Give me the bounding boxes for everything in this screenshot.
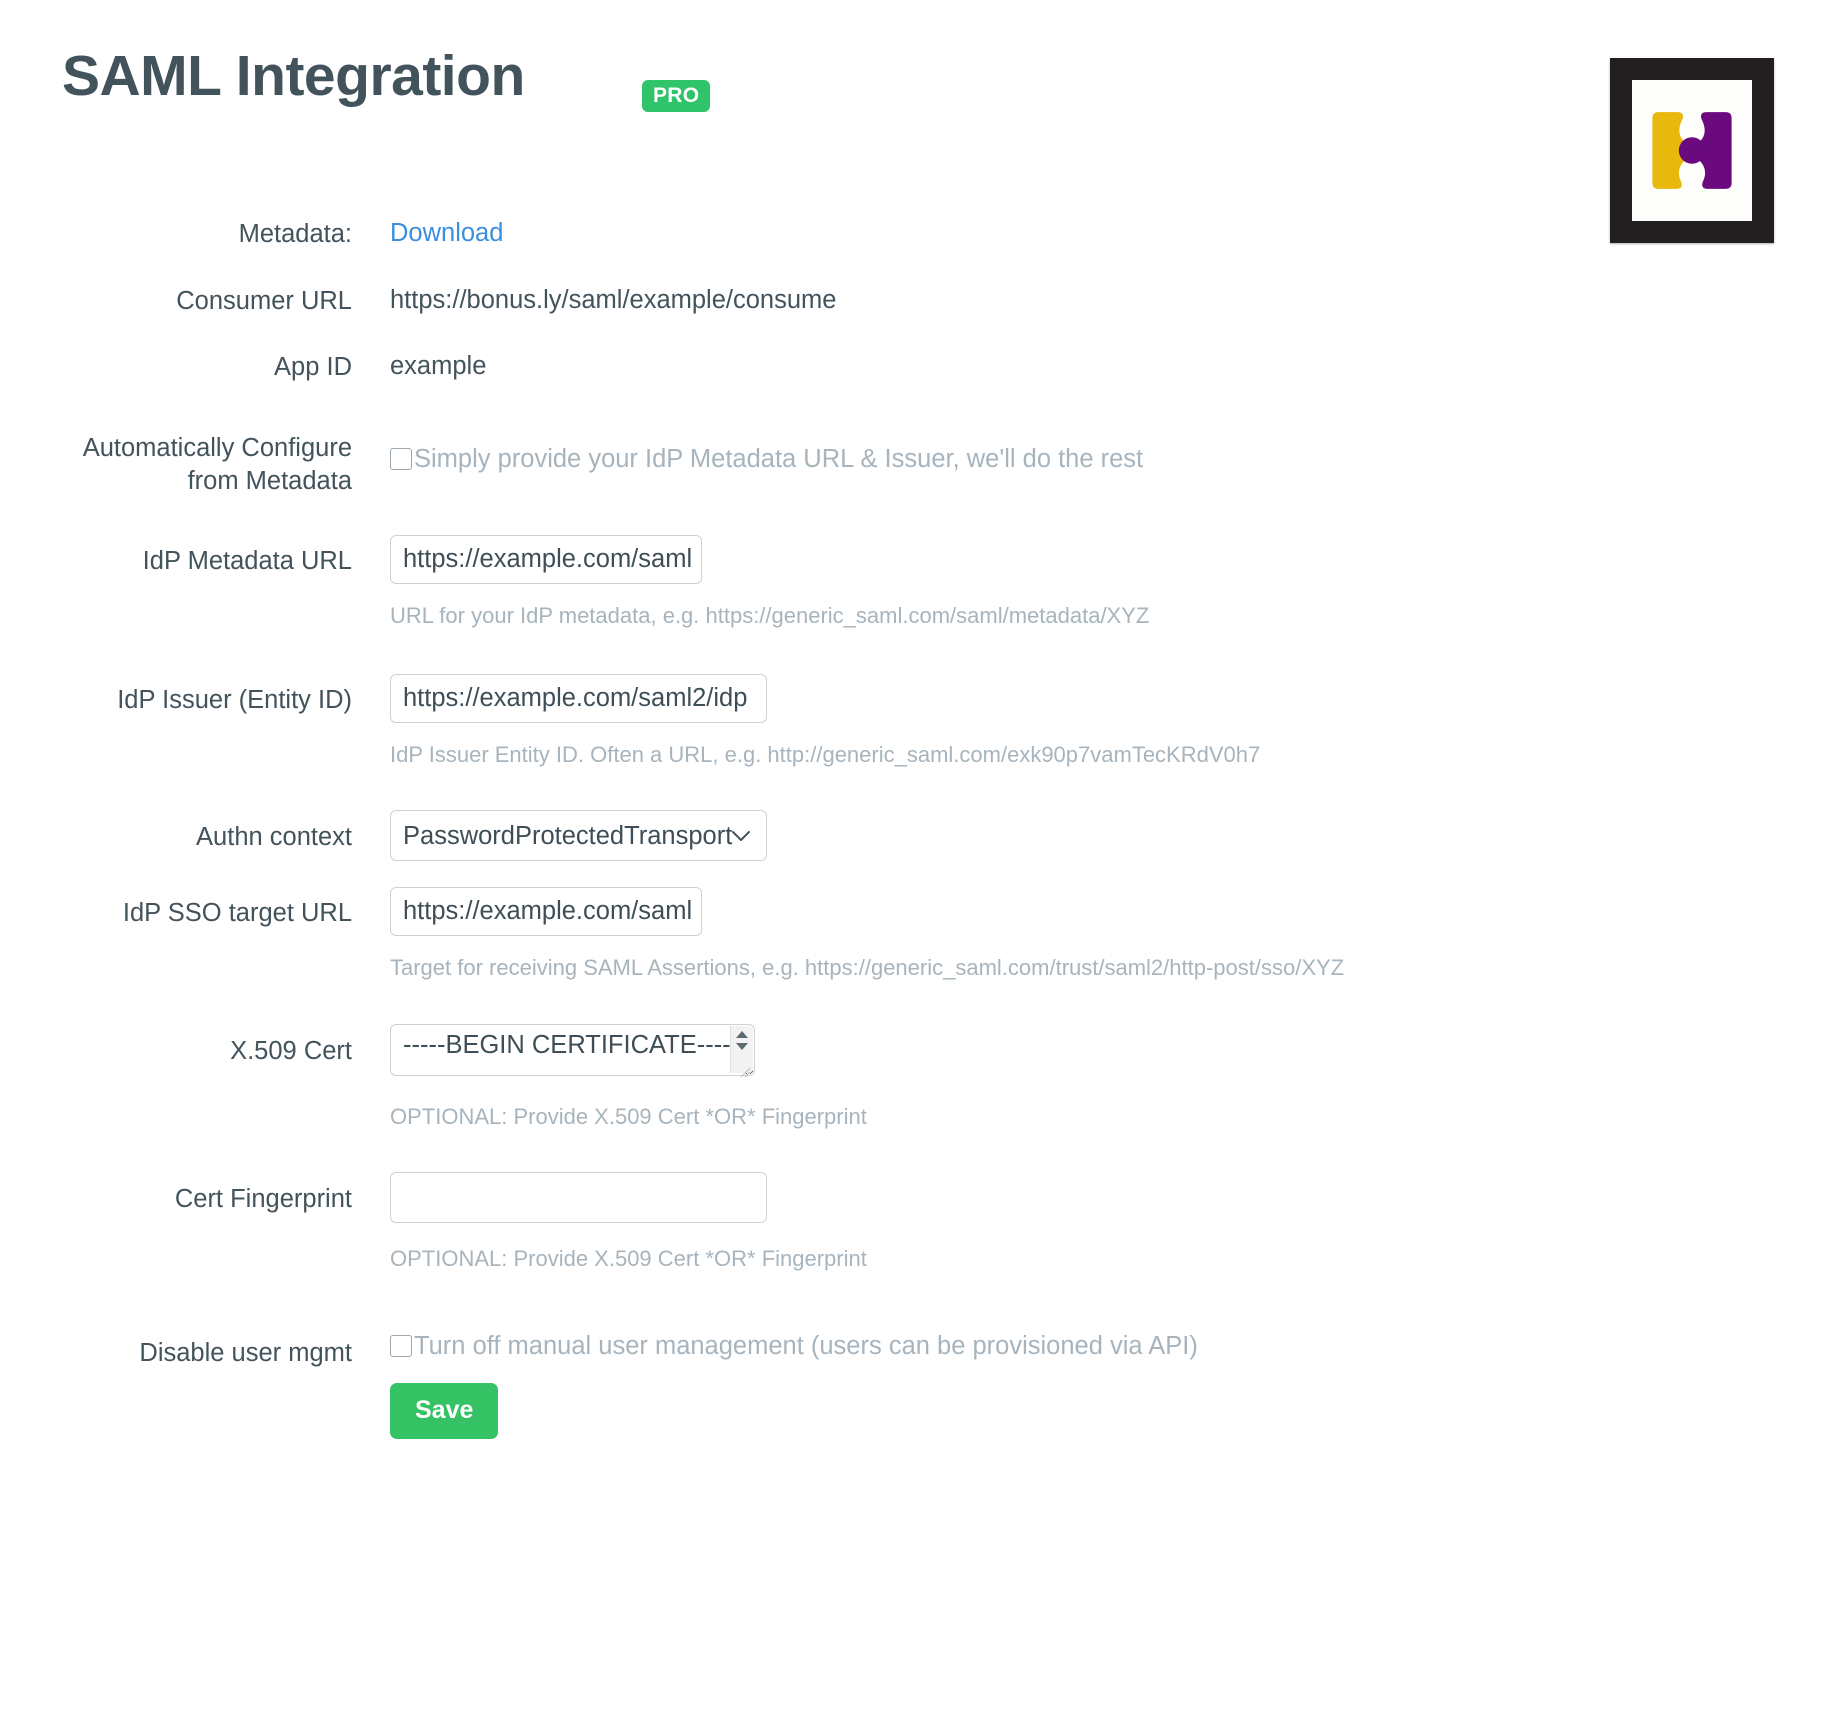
field-disable-user-mgmt: Turn off manual user management (users c… — [390, 1331, 1832, 1440]
field-idp-issuer: IdP Issuer Entity ID. Often a URL, e.g. … — [390, 674, 1832, 769]
metadata-download-link[interactable]: Download — [390, 219, 503, 247]
label-consumer-url: Consumer URL — [0, 285, 390, 318]
label-x509-cert: X.509 Cert — [0, 1024, 390, 1068]
field-auto-configure: Simply provide your IdP Metadata URL & I… — [390, 432, 1832, 475]
field-app-id: example — [390, 351, 1832, 382]
row-app-id: App ID example — [0, 351, 1832, 384]
row-consumer-url: Consumer URL https://bonus.ly/saml/examp… — [0, 285, 1832, 318]
label-authn-context: Authn context — [0, 810, 390, 854]
row-idp-metadata-url: IdP Metadata URL URL for your IdP metada… — [0, 535, 1832, 630]
row-idp-issuer: IdP Issuer (Entity ID) IdP Issuer Entity… — [0, 674, 1832, 769]
disable-user-mgmt-checkbox[interactable] — [390, 1335, 412, 1357]
x509-cert-help: OPTIONAL: Provide X.509 Cert *OR* Finger… — [390, 1103, 1832, 1131]
label-auto-configure-line1: Automatically Configure — [83, 434, 352, 462]
row-x509-cert: X.509 Cert -----BEGIN CERTIFICATE----- — [0, 1024, 1832, 1131]
resize-handle-icon[interactable] — [739, 1066, 751, 1078]
row-idp-sso-target-url: IdP SSO target URL Target for receiving … — [0, 887, 1832, 982]
app-id-value: example — [390, 351, 1832, 382]
idp-sso-target-url-input[interactable] — [390, 887, 702, 936]
label-idp-metadata-url: IdP Metadata URL — [0, 535, 390, 578]
label-idp-sso-target-url: IdP SSO target URL — [0, 887, 390, 930]
idp-sso-target-url-help: Target for receiving SAML Assertions, e.… — [390, 954, 1832, 982]
disable-user-mgmt-checkbox-row[interactable]: Turn off manual user management (users c… — [390, 1331, 1832, 1362]
idp-metadata-url-input[interactable] — [390, 535, 702, 584]
authn-context-select[interactable]: PasswordProtectedTransport — [390, 810, 767, 861]
bonusly-logo-icon — [1610, 58, 1774, 243]
field-cert-fingerprint: OPTIONAL: Provide X.509 Cert *OR* Finger… — [390, 1172, 1832, 1273]
label-metadata: Metadata: — [0, 218, 390, 251]
consumer-url-value: https://bonus.ly/saml/example/consume — [390, 285, 1832, 316]
auto-configure-checkbox[interactable] — [390, 448, 412, 470]
idp-metadata-url-help: URL for your IdP metadata, e.g. https://… — [390, 602, 1832, 630]
scroll-down-arrow-icon[interactable] — [735, 1042, 749, 1051]
page-title: SAML Integration — [62, 48, 525, 105]
x509-cert-textarea-wrap: -----BEGIN CERTIFICATE----- — [390, 1024, 755, 1081]
save-button[interactable]: Save — [390, 1383, 498, 1439]
label-auto-configure-line2: from Metadata — [188, 467, 352, 495]
saml-config-form: Metadata: Download Consumer URL https://… — [0, 218, 1832, 1439]
label-cert-fingerprint: Cert Fingerprint — [0, 1172, 390, 1216]
row-authn-context: Authn context PasswordProtectedTransport — [0, 810, 1832, 861]
disable-user-mgmt-checkbox-label: Turn off manual user management (users c… — [414, 1331, 1198, 1362]
x509-cert-textarea[interactable]: -----BEGIN CERTIFICATE----- — [390, 1024, 755, 1076]
idp-issuer-help: IdP Issuer Entity ID. Often a URL, e.g. … — [390, 741, 1832, 769]
row-auto-configure: Automatically Configure from Metadata Si… — [0, 432, 1832, 497]
logo-inner-panel — [1632, 80, 1752, 221]
field-x509-cert: -----BEGIN CERTIFICATE----- OPT — [390, 1024, 1832, 1131]
scroll-up-arrow-icon[interactable] — [735, 1030, 749, 1039]
auto-configure-checkbox-row[interactable]: Simply provide your IdP Metadata URL & I… — [390, 444, 1832, 475]
field-consumer-url: https://bonus.ly/saml/example/consume — [390, 285, 1832, 316]
label-disable-user-mgmt: Disable user mgmt — [0, 1331, 390, 1370]
field-authn-context: PasswordProtectedTransport — [390, 810, 1832, 861]
cert-fingerprint-input[interactable] — [390, 1172, 767, 1223]
saml-integration-page: SAML Integration PRO Metadata: Download … — [0, 0, 1832, 1717]
field-idp-metadata-url: URL for your IdP metadata, e.g. https://… — [390, 535, 1832, 630]
field-metadata: Download — [390, 218, 1832, 249]
cert-fingerprint-help: OPTIONAL: Provide X.509 Cert *OR* Finger… — [390, 1245, 1832, 1273]
label-idp-issuer: IdP Issuer (Entity ID) — [0, 674, 390, 717]
row-metadata: Metadata: Download — [0, 218, 1832, 251]
field-idp-sso-target-url: Target for receiving SAML Assertions, e.… — [390, 887, 1832, 982]
authn-context-select-wrap: PasswordProtectedTransport — [390, 810, 767, 861]
idp-issuer-input[interactable] — [390, 674, 767, 723]
row-disable-user-mgmt: Disable user mgmt Turn off manual user m… — [0, 1331, 1832, 1440]
label-app-id: App ID — [0, 351, 390, 384]
label-auto-configure: Automatically Configure from Metadata — [0, 432, 390, 497]
row-cert-fingerprint: Cert Fingerprint OPTIONAL: Provide X.509… — [0, 1172, 1832, 1273]
logo-mark-icon — [1632, 80, 1752, 221]
auto-configure-checkbox-label: Simply provide your IdP Metadata URL & I… — [414, 444, 1143, 475]
pro-badge: PRO — [642, 80, 710, 112]
